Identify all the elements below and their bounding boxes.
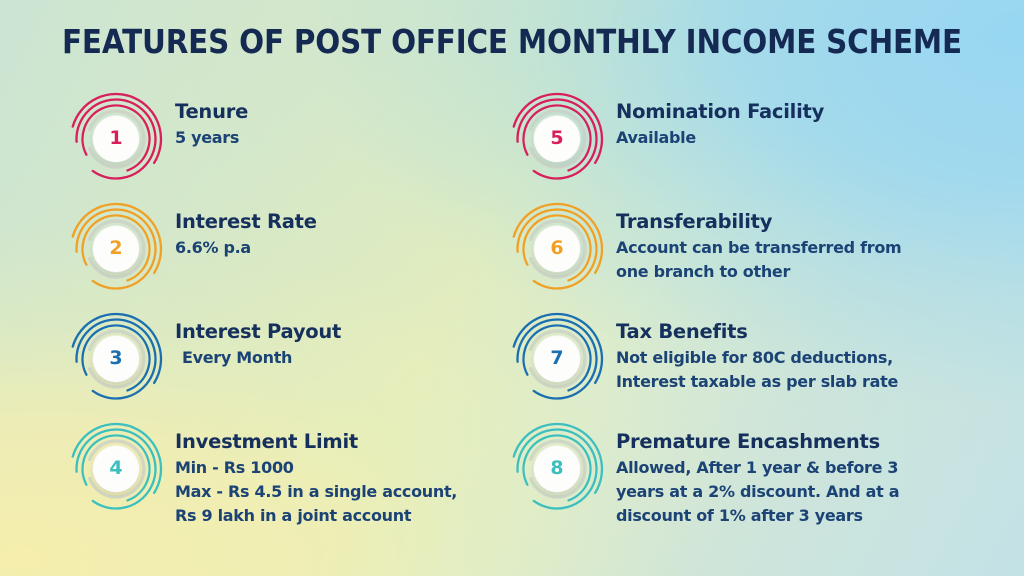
feature-detail-line: Not eligible for 80C deductions, xyxy=(616,346,985,370)
feature-detail-line: Allowed, After 1 year & before 3 xyxy=(616,456,985,480)
feature-badge: 7 xyxy=(512,312,606,408)
badge-number: 7 xyxy=(550,349,563,369)
feature-badge: 1 xyxy=(71,92,165,188)
feature-badge: 2 xyxy=(71,202,165,298)
feature-badge: 3 xyxy=(71,312,165,408)
feature-text-block: Interest PayoutEvery Month xyxy=(175,312,504,370)
feature-item-8: 8Premature EncashmentsAllowed, After 1 y… xyxy=(515,422,985,532)
feature-item-4: 4Investment LimitMin - Rs 1000Max - Rs 4… xyxy=(74,422,504,532)
feature-detail-line: discount of 1% after 3 years xyxy=(616,504,985,528)
infographic-canvas: FEATURES OF POST OFFICE MONTHLY INCOME S… xyxy=(0,0,1024,576)
feature-detail-line: years at a 2% discount. And at a xyxy=(616,480,985,504)
badge-disc: 6 xyxy=(534,226,580,272)
feature-detail-line: Available xyxy=(616,126,985,150)
feature-detail-line: Rs 9 lakh in a joint account xyxy=(175,504,504,528)
feature-detail-line: Account can be transferred from xyxy=(616,236,985,260)
feature-detail-line: 5 years xyxy=(175,126,504,150)
feature-item-1: 1Tenure5 years xyxy=(74,92,504,202)
feature-heading: Interest Payout xyxy=(175,320,504,344)
feature-text-block: Tax BenefitsNot eligible for 80C deducti… xyxy=(616,312,985,394)
badge-disc: 2 xyxy=(93,226,139,272)
page-title: FEATURES OF POST OFFICE MONTHLY INCOME S… xyxy=(62,22,895,62)
feature-text-block: Premature EncashmentsAllowed, After 1 ye… xyxy=(616,422,985,528)
feature-item-6: 6TransferabilityAccount can be transferr… xyxy=(515,202,985,312)
feature-heading: Transferability xyxy=(616,210,985,234)
badge-disc: 1 xyxy=(93,116,139,162)
badge-number: 4 xyxy=(109,459,122,479)
badge-disc: 8 xyxy=(534,446,580,492)
feature-heading: Premature Encashments xyxy=(616,430,985,454)
feature-heading: Nomination Facility xyxy=(616,100,985,124)
badge-disc: 7 xyxy=(534,336,580,382)
feature-heading: Tenure xyxy=(175,100,504,124)
feature-text-block: TransferabilityAccount can be transferre… xyxy=(616,202,985,284)
feature-text-block: Tenure5 years xyxy=(175,92,504,150)
badge-number: 5 xyxy=(550,129,563,149)
badge-disc: 5 xyxy=(534,116,580,162)
feature-text-block: Interest Rate6.6% p.a xyxy=(175,202,504,260)
feature-item-2: 2Interest Rate6.6% p.a xyxy=(74,202,504,312)
feature-badge: 5 xyxy=(512,92,606,188)
feature-text-block: Investment LimitMin - Rs 1000Max - Rs 4.… xyxy=(175,422,504,528)
badge-number: 6 xyxy=(550,239,563,259)
feature-detail-line: Max - Rs 4.5 in a single account, xyxy=(175,480,504,504)
feature-item-3: 3Interest PayoutEvery Month xyxy=(74,312,504,422)
feature-detail-line: Interest taxable as per slab rate xyxy=(616,370,985,394)
feature-badge: 4 xyxy=(71,422,165,518)
feature-detail-line: 6.6% p.a xyxy=(175,236,504,260)
badge-number: 2 xyxy=(109,239,122,259)
feature-badge: 8 xyxy=(512,422,606,518)
feature-item-5: 5Nomination FacilityAvailable xyxy=(515,92,985,202)
feature-badge: 6 xyxy=(512,202,606,298)
feature-heading: Interest Rate xyxy=(175,210,504,234)
feature-detail-line: Min - Rs 1000 xyxy=(175,456,504,480)
feature-heading: Tax Benefits xyxy=(616,320,985,344)
features-column-right: 5Nomination FacilityAvailable6Transferab… xyxy=(515,92,985,532)
features-column-left: 1Tenure5 years2Interest Rate6.6% p.a3Int… xyxy=(74,92,504,532)
badge-number: 8 xyxy=(550,459,563,479)
feature-item-7: 7Tax BenefitsNot eligible for 80C deduct… xyxy=(515,312,985,422)
badge-number: 1 xyxy=(109,129,122,149)
badge-number: 3 xyxy=(109,349,122,369)
feature-detail-line: one branch to other xyxy=(616,260,985,284)
feature-detail-line: Every Month xyxy=(175,346,504,370)
feature-text-block: Nomination FacilityAvailable xyxy=(616,92,985,150)
feature-heading: Investment Limit xyxy=(175,430,504,454)
badge-disc: 4 xyxy=(93,446,139,492)
badge-disc: 3 xyxy=(93,336,139,382)
